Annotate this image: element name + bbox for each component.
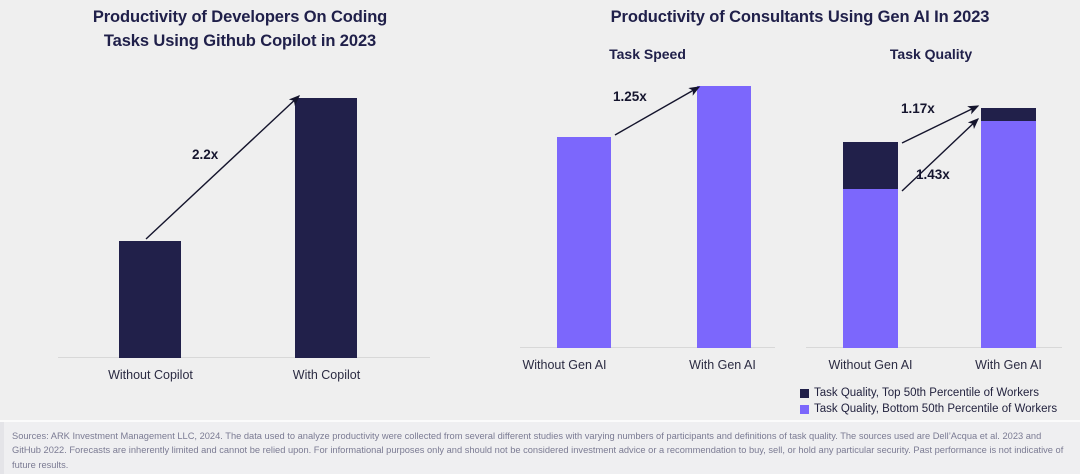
bar-task-quality-without-gen-ai (843, 142, 898, 348)
legend-swatch-bottom-percentile (800, 405, 809, 414)
task-quality-subtitle: Task Quality (800, 46, 1062, 62)
footer-accent-bar (0, 422, 4, 474)
legend-swatch-top-percentile (800, 389, 809, 398)
legend-label-bottom-percentile: Task Quality, Bottom 50th Percentile of … (814, 402, 1057, 416)
legend-item-top-percentile: Task Quality, Top 50th Percentile of Wor… (800, 386, 1076, 400)
legend-item-bottom-percentile: Task Quality, Bottom 50th Percentile of … (800, 402, 1076, 416)
bar-with-copilot (295, 98, 357, 358)
task-speed-xlabel-with-gen-ai: With Gen AI (663, 358, 782, 372)
task-speed-annotation-1-25x: 1.25x (613, 89, 647, 104)
segment-bottom-percentile-without-gen-ai (843, 189, 898, 348)
left-chart-panel (58, 85, 430, 358)
task-speed-xlabel-without-gen-ai: Without Gen AI (505, 358, 624, 372)
task-quality-xlabel-with-gen-ai: With Gen AI (949, 358, 1068, 372)
segment-bottom-percentile-with-gen-ai (981, 121, 1036, 348)
left-chart-arrow-group (58, 85, 430, 358)
segment-top-percentile-with-gen-ai (981, 108, 1036, 121)
left-chart-title: Productivity of Developers On Coding Tas… (20, 6, 460, 54)
task-speed-subtitle: Task Speed (520, 46, 775, 62)
left-chart-title-line1: Productivity of Developers On Coding (20, 6, 460, 30)
bar-task-speed-with-gen-ai (697, 86, 751, 348)
slide-canvas: Productivity of Developers On Coding Tas… (0, 0, 1080, 474)
task-quality-annotation-1-17x: 1.17x (901, 101, 935, 116)
bar-task-speed-without-gen-ai (557, 137, 611, 348)
footer-sources-text: Sources: ARK Investment Management LLC, … (12, 429, 1068, 472)
left-chart-growth-arrow (146, 96, 299, 239)
right-chart-title: Productivity of Consultants Using Gen AI… (520, 6, 1080, 30)
left-chart-xlabel-with-copilot: With Copilot (245, 368, 408, 382)
left-chart-xlabel-without-copilot: Without Copilot (69, 368, 232, 382)
bar-task-quality-with-gen-ai (981, 108, 1036, 348)
left-chart-title-line2: Tasks Using Github Copilot in 2023 (20, 30, 460, 54)
bar-without-copilot (119, 241, 181, 358)
task-speed-panel (520, 75, 775, 348)
task-quality-legend: Task Quality, Top 50th Percentile of Wor… (800, 386, 1076, 419)
segment-top-percentile-without-gen-ai (843, 142, 898, 189)
left-chart-annotation-2-2x: 2.2x (192, 147, 218, 162)
legend-label-top-percentile: Task Quality, Top 50th Percentile of Wor… (814, 386, 1039, 400)
left-chart-baseline (58, 357, 430, 358)
task-quality-annotation-1-43x: 1.43x (916, 167, 950, 182)
task-quality-xlabel-without-gen-ai: Without Gen AI (811, 358, 930, 372)
footer-bar: Sources: ARK Investment Management LLC, … (0, 422, 1080, 474)
